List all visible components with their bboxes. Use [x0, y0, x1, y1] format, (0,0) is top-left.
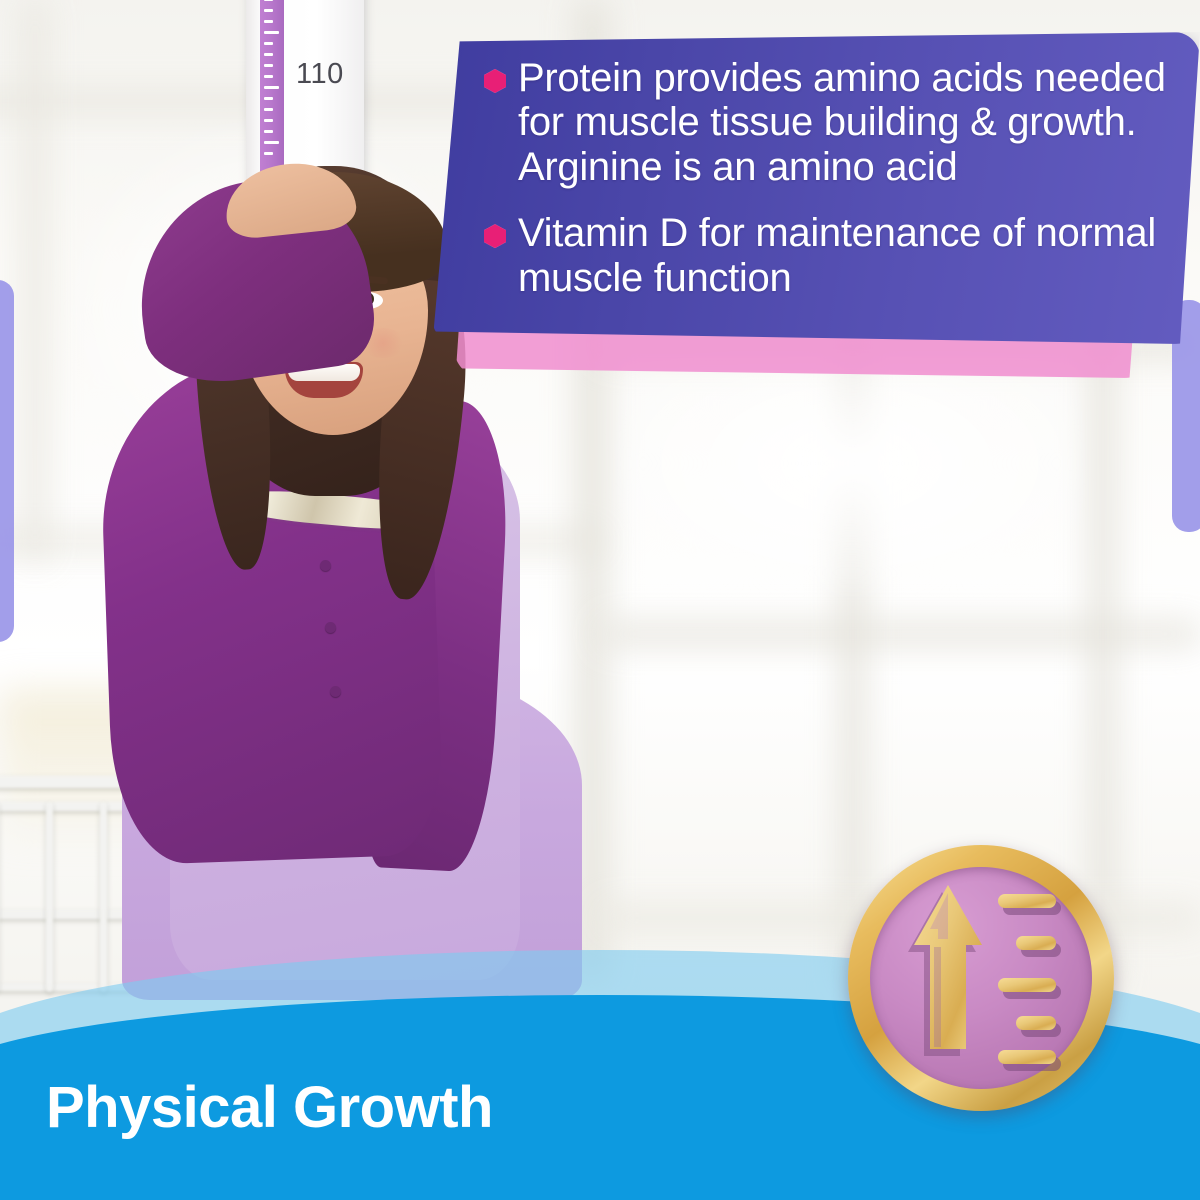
page-title: Physical Growth — [46, 1074, 493, 1141]
hexagon-bullet-icon — [484, 56, 518, 93]
bullet-text: Vitamin D for maintenance of normal musc… — [518, 211, 1168, 300]
cardigan-button — [320, 560, 331, 571]
hexagon-bullet-icon — [484, 211, 518, 248]
physical-growth-badge — [848, 845, 1114, 1111]
left-edge-tab[interactable] — [0, 280, 14, 642]
info-panel: Protein provides amino acids needed for … — [432, 32, 1200, 362]
bullet-text: Protein provides amino acids needed for … — [518, 56, 1168, 189]
window-glow — [620, 360, 1080, 590]
chart-label-110: 110 — [296, 58, 344, 91]
cardigan-button — [330, 686, 341, 697]
window-frame-bar — [22, 0, 48, 560]
bullet-item: Vitamin D for maintenance of normal musc… — [484, 211, 1168, 300]
bullet-item: Protein provides amino acids needed for … — [484, 56, 1168, 189]
growth-arrow-ruler-icon — [870, 867, 1092, 1089]
panel-content: Protein provides amino acids needed for … — [484, 56, 1168, 306]
cardigan-button — [325, 622, 336, 633]
poster-canvas: 120 110 — [0, 0, 1200, 1200]
